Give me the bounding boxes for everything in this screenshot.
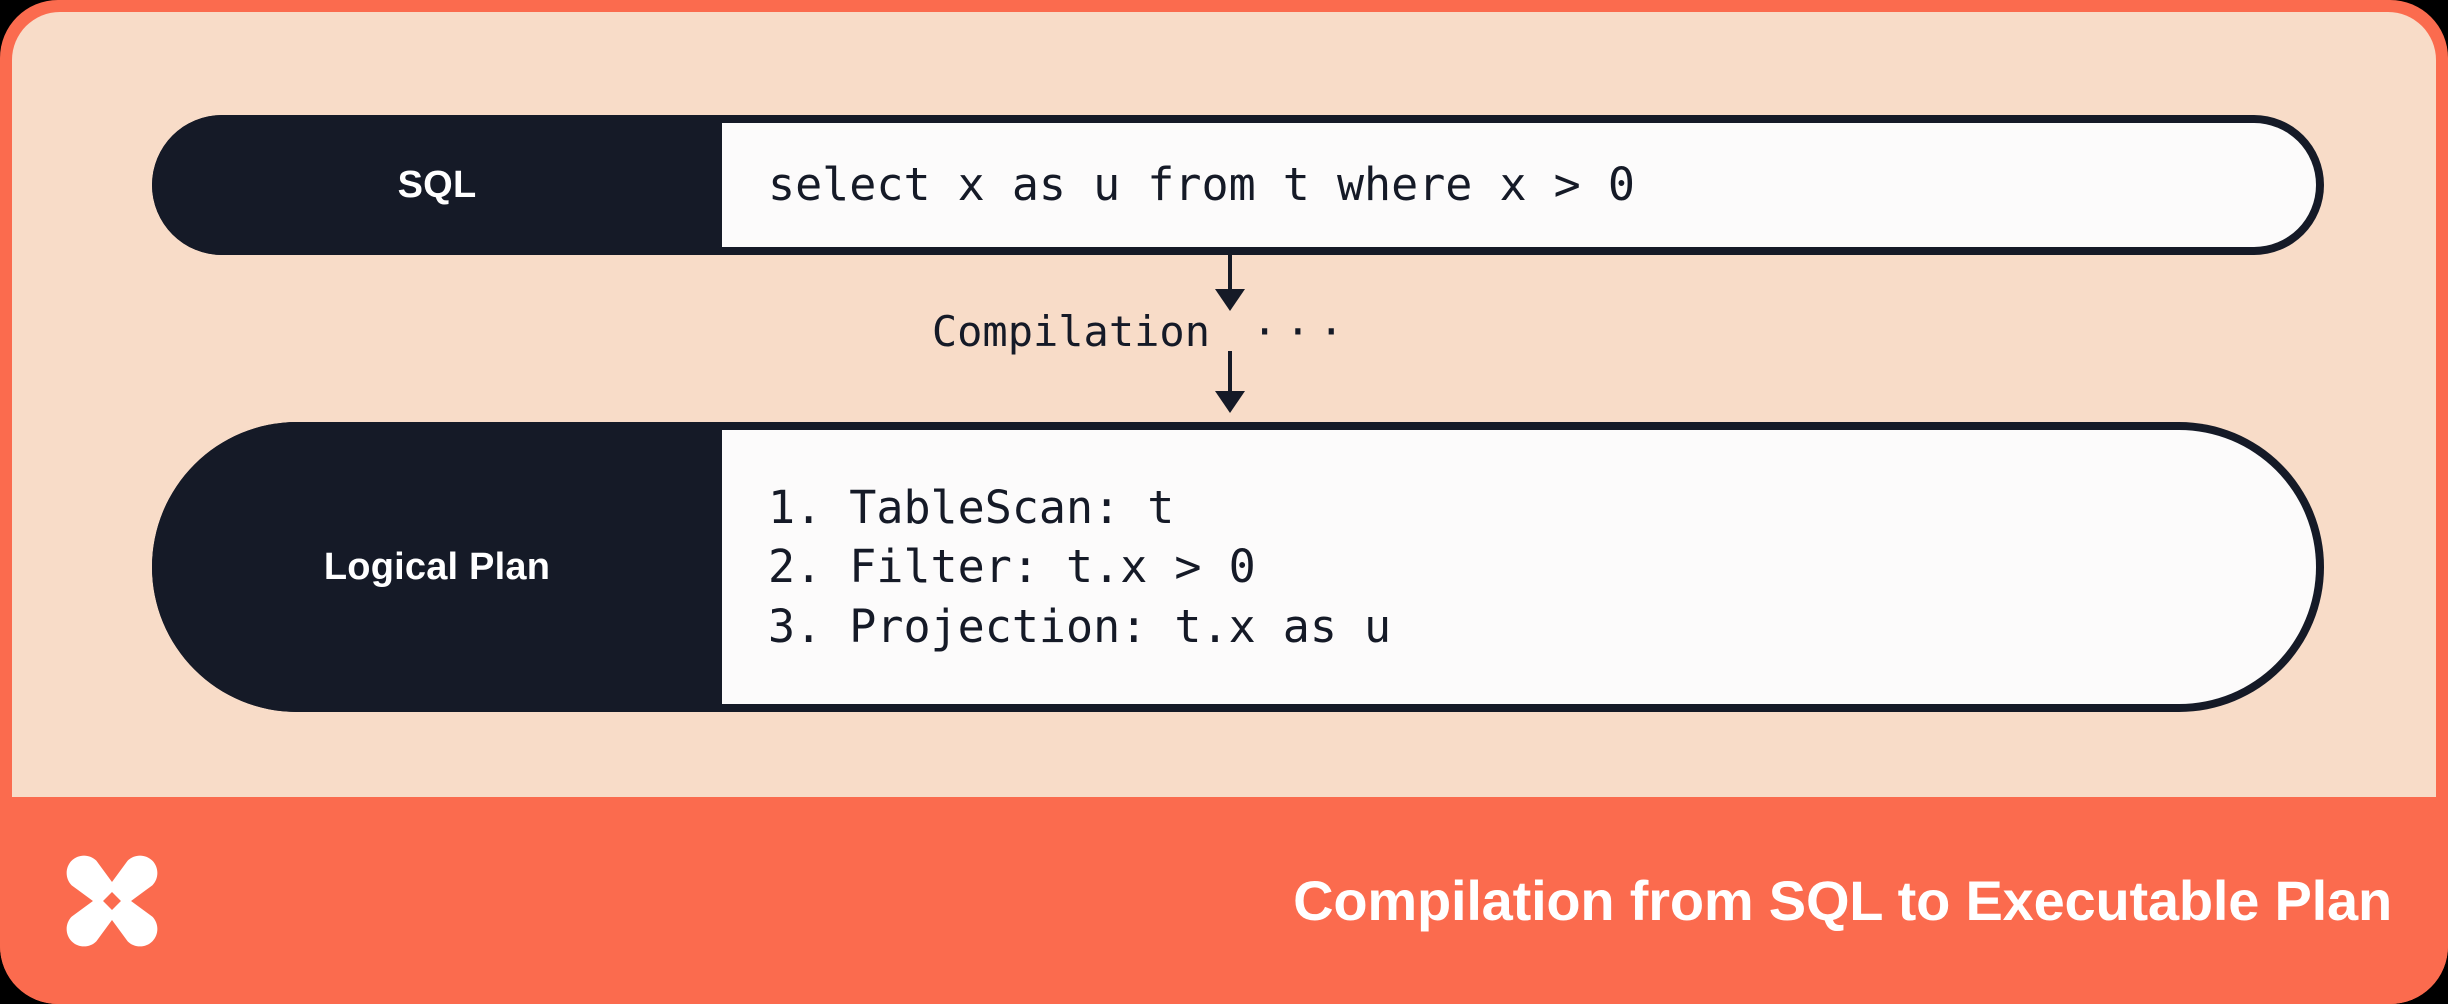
- row-sql-label: SQL: [152, 115, 722, 255]
- diagram-card: SQL select x as u from t where x > 0 Com…: [0, 0, 2448, 1004]
- ellipsis-icon: ···: [1252, 307, 1352, 356]
- compilation-label: Compilation: [810, 307, 1210, 356]
- four-pointed-star-logo: [56, 845, 168, 957]
- row-sql-body: select x as u from t where x > 0: [722, 123, 2316, 247]
- arrow-head-lower: [1215, 391, 1245, 413]
- plan-step-2: 2. Filter: t.x > 0: [722, 537, 2316, 596]
- compilation-transition: Compilation ···: [12, 255, 2448, 423]
- plan-step-1: 1. TableScan: t: [722, 478, 2316, 537]
- sql-query-text: select x as u from t where x > 0: [722, 155, 2316, 214]
- row-logical-plan: Logical Plan 1. TableScan: t 2. Filter: …: [152, 422, 2324, 712]
- footer-bar: Compilation from SQL to Executable Plan: [0, 797, 2448, 1004]
- row-logical-plan-label: Logical Plan: [152, 422, 722, 712]
- arrow-shaft-lower: [1228, 351, 1232, 395]
- plan-step-3: 3. Projection: t.x as u: [722, 597, 2316, 656]
- arrow-shaft-upper: [1228, 255, 1232, 291]
- diagram-panel: SQL select x as u from t where x > 0 Com…: [12, 12, 2436, 797]
- row-sql: SQL select x as u from t where x > 0: [152, 115, 2324, 255]
- arrow-head-upper: [1215, 289, 1245, 311]
- screenshot-canvas: SQL select x as u from t where x > 0 Com…: [0, 0, 2448, 1004]
- row-logical-plan-body: 1. TableScan: t 2. Filter: t.x > 0 3. Pr…: [722, 430, 2316, 704]
- footer-title: Compilation from SQL to Executable Plan: [1293, 868, 2392, 933]
